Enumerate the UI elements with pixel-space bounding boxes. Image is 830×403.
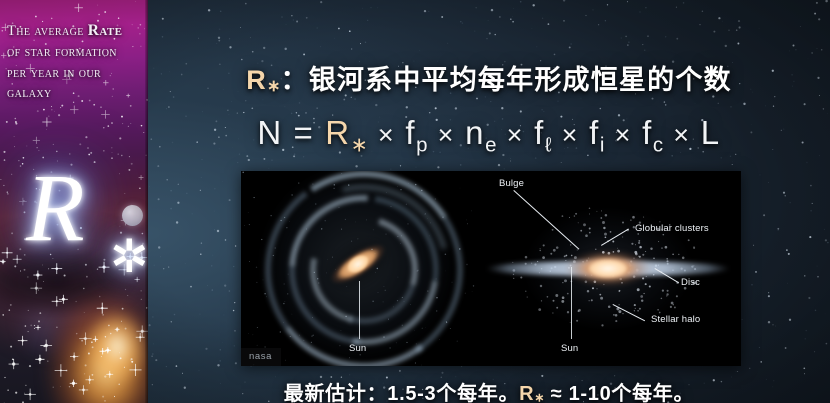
title-separator: ： — [281, 65, 309, 95]
poster-panel: The average Rate of star formation per y… — [0, 0, 148, 403]
equation-subscript: e — [485, 134, 496, 157]
equation-times-3: × — [496, 120, 534, 150]
bottom-caption-suffix: ≈ 1-10个每年。 — [544, 383, 694, 403]
poster-asterisk-glyph: ✲ — [110, 233, 148, 279]
drake-equation: N = R∗ × fp × ne × fℓ × fi × fc × L — [148, 114, 830, 158]
equation-subscript: c — [653, 134, 663, 157]
figure-right-panel: Bulge Globular clusters Disc Stellar hal… — [475, 171, 741, 366]
equation-subscript: ∗ — [351, 134, 368, 157]
equation-lhs: N — [257, 114, 282, 151]
equation-subscript: p — [416, 134, 427, 157]
leader-line-sun-left — [359, 281, 360, 339]
title-symbol-asterisk: ∗ — [267, 77, 281, 95]
equation-times-2: × — [428, 120, 466, 150]
bottom-caption-symbol: R∗ — [519, 383, 544, 403]
leader-line-sun-right — [571, 267, 572, 339]
poster-caption-emphasis: Rate — [88, 22, 123, 39]
equation-term-fc: fc — [642, 114, 663, 151]
poster-caption-line1: The average — [7, 23, 88, 39]
moon-circle-icon — [122, 205, 143, 226]
poster-caption: The average Rate of star formation per y… — [7, 20, 143, 104]
equation-subscript: ℓ — [545, 134, 552, 157]
poster-r-glyph: R — [26, 160, 85, 256]
label-disc: Disc — [681, 277, 700, 288]
equation-term-L: L — [701, 114, 721, 151]
bottom-caption-prefix: 最新估计：1.5-3个每年。 — [284, 383, 519, 403]
equation-times-6: × — [663, 120, 701, 150]
label-sun-right: Sun — [561, 343, 578, 354]
equation-term-fi: fi — [589, 114, 604, 151]
label-bulge: Bulge — [499, 178, 524, 189]
poster-caption-line3: per year in our — [7, 65, 101, 81]
spiral-star-speckle — [241, 171, 475, 366]
edge-on-galaxy-graphic — [475, 171, 741, 366]
slide-canvas: The average Rate of star formation per y… — [0, 0, 830, 403]
label-globular-clusters: Globular clusters — [635, 223, 709, 234]
figure-left-panel: Sun nasa — [241, 171, 475, 366]
galaxy-figure: Sun nasa Bulge Globular clusters Disc St… — [241, 171, 741, 366]
equation-equals: = — [283, 114, 325, 151]
title-text: 银河系中平均每年形成恒星的个数 — [309, 65, 732, 95]
equation-times-1: × — [368, 120, 406, 150]
equation-term-fℓ: fℓ — [534, 114, 551, 151]
page-title: R∗：银河系中平均每年形成恒星的个数 — [148, 58, 830, 97]
poster-caption-line4: galaxy — [7, 85, 52, 101]
bottom-caption: 最新估计：1.5-3个每年。R∗ ≈ 1-10个每年。 — [148, 377, 830, 403]
equation-term-ne: ne — [465, 114, 496, 151]
title-symbol: R∗ — [246, 65, 280, 95]
equation-times-5: × — [604, 120, 642, 150]
label-sun-left: Sun — [349, 343, 366, 354]
label-stellar-halo: Stellar halo — [651, 314, 700, 325]
equation-times-4: × — [552, 120, 590, 150]
poster-caption-line2: of star formation — [7, 44, 117, 60]
nasa-credit: nasa — [241, 348, 281, 366]
equation-term-R∗: R∗ — [325, 114, 368, 151]
equation-term-fp: fp — [405, 114, 427, 151]
